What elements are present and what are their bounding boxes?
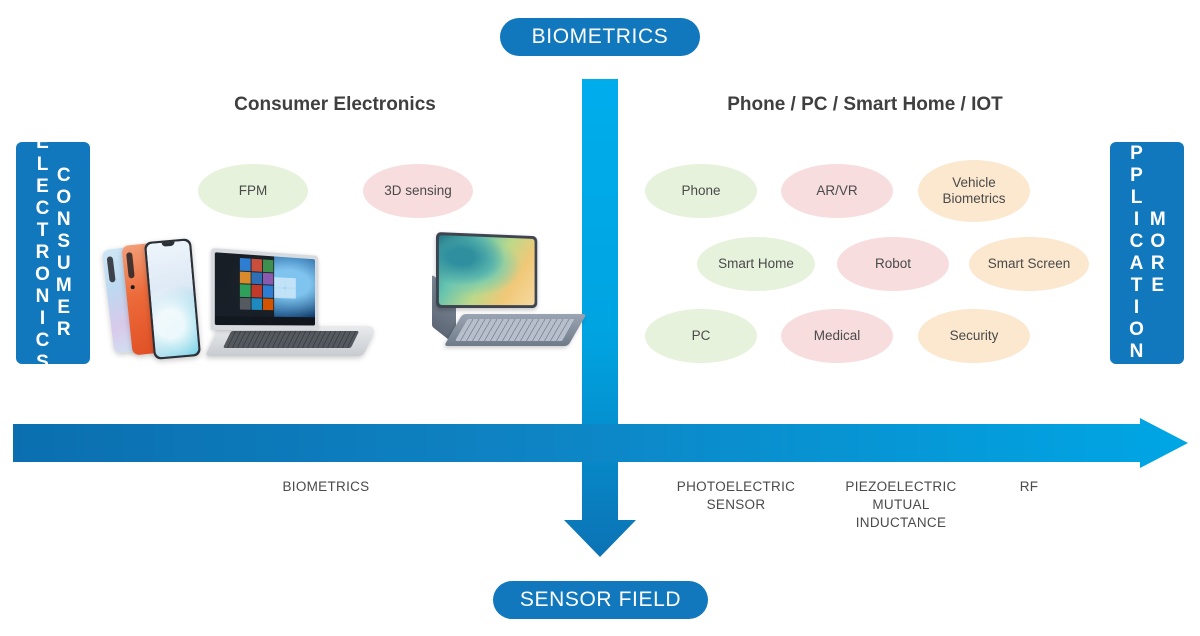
chip-robot-label: Robot: [875, 256, 911, 272]
chip-smart-screen[interactable]: Smart Screen: [969, 237, 1089, 291]
chip-vehicle-biometrics[interactable]: Vehicle Biometrics: [918, 160, 1030, 222]
side-label-more-applications: MORE APPLICATIONS: [1110, 142, 1184, 364]
laptop-base: [205, 326, 378, 356]
camera-module-icon: [126, 252, 135, 278]
chip-security-label: Security: [950, 328, 999, 344]
chip-robot[interactable]: Robot: [837, 237, 949, 291]
side-label-consumer-electronics: CONSUMER ELECTRONICS: [16, 142, 90, 364]
chip-pc-label: PC: [692, 328, 711, 344]
laptop-lid: [211, 248, 318, 330]
chip-pc[interactable]: PC: [645, 309, 757, 363]
chip-3d-sensing-label: 3D sensing: [384, 183, 452, 199]
windows-logo-icon: [274, 277, 296, 298]
side-label-left-text: CONSUMER ELECTRONICS: [32, 132, 75, 374]
laptop-image: [205, 248, 363, 356]
notch-icon: [161, 242, 174, 247]
axis-caption-photoelectric-sensor: PHOTOELECTRIC SENSOR: [665, 478, 807, 514]
top-pill-label: BIOMETRICS: [532, 25, 669, 49]
camera-dot-icon: [131, 285, 135, 289]
start-menu-tiles: [240, 258, 274, 310]
bottom-pill-sensor-field[interactable]: SENSOR FIELD: [493, 581, 708, 619]
axis-caption-rf: RF: [988, 478, 1070, 496]
tablet-image: [428, 232, 568, 350]
phone-front-display: [144, 238, 201, 360]
side-label-right-text: MORE APPLICATIONS: [1126, 121, 1169, 385]
diagram-canvas: BIOMETRICS SENSOR FIELD CONSUMER ELECTRO…: [0, 0, 1200, 636]
axis-caption-biometrics: BIOMETRICS: [226, 478, 426, 496]
chip-smart-home[interactable]: Smart Home: [697, 237, 815, 291]
tablet-keys: [455, 319, 576, 341]
chip-smart-home-label: Smart Home: [718, 256, 794, 272]
chip-ar-vr-label: AR/VR: [816, 183, 857, 199]
laptop-keyboard: [223, 331, 359, 348]
windows-taskbar: [215, 316, 315, 325]
chip-fpm[interactable]: FPM: [198, 164, 308, 218]
chip-security[interactable]: Security: [918, 309, 1030, 363]
chip-phone[interactable]: Phone: [645, 164, 757, 218]
chip-smart-screen-label: Smart Screen: [988, 256, 1071, 272]
chip-3d-sensing[interactable]: 3D sensing: [363, 164, 473, 218]
horizontal-spectrum-arrow: [10, 416, 1192, 478]
column-header-consumer-electronics: Consumer Electronics: [135, 94, 535, 116]
chip-ar-vr[interactable]: AR/VR: [781, 164, 893, 218]
smartphones-image: [108, 238, 208, 363]
chip-medical-label: Medical: [814, 328, 861, 344]
axis-caption-piezoelectric-mutual-inductance: PIEZOELECTRIC MUTUAL INDUCTANCE: [830, 478, 972, 531]
laptop-screen: [215, 252, 315, 325]
tablet-wallpaper: [439, 235, 535, 305]
chip-medical[interactable]: Medical: [781, 309, 893, 363]
phone-screen: [146, 240, 199, 357]
top-pill-biometrics[interactable]: BIOMETRICS: [500, 18, 700, 56]
chip-vehicle-biometrics-label: Vehicle Biometrics: [924, 175, 1024, 207]
tablet-keyboard-folio: [444, 314, 586, 346]
chip-fpm-label: FPM: [239, 183, 268, 199]
chip-phone-label: Phone: [681, 183, 720, 199]
bottom-pill-label: SENSOR FIELD: [520, 588, 681, 612]
column-header-phone-pc-smarthome-iot: Phone / PC / Smart Home / IOT: [665, 94, 1065, 116]
tablet-display: [436, 232, 537, 308]
camera-module-icon: [107, 256, 116, 283]
